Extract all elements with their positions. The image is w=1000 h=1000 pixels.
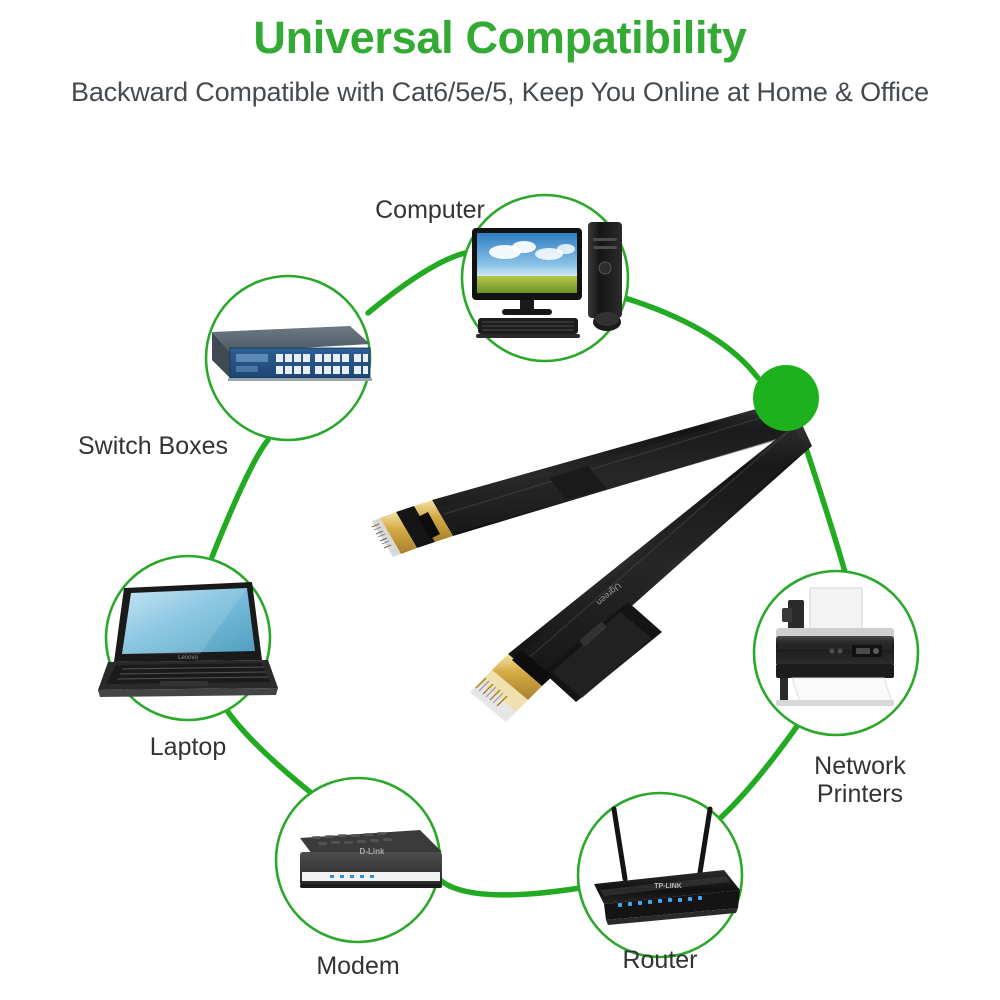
arc-hub-printers [800, 430, 845, 572]
svg-text:Lenovo: Lenovo [178, 655, 198, 661]
computer-icon [472, 222, 622, 338]
label-network-printers: Network Printers [760, 752, 960, 808]
compatibility-diagram: Lenovo D-Link [0, 0, 1000, 1000]
cable-hub-node [753, 365, 819, 431]
infographic-page: Universal Compatibility Backward Compati… [0, 0, 1000, 1000]
modem-icon: D-Link [300, 830, 442, 888]
switch-box-icon [212, 326, 372, 381]
svg-text:TP-LINK: TP-LINK [654, 883, 682, 890]
arc-router-modem [440, 880, 580, 895]
label-switch-boxes: Switch Boxes [48, 432, 258, 460]
svg-text:D-Link: D-Link [360, 847, 385, 856]
arc-switch-computer [368, 253, 465, 313]
label-computer: Computer [330, 196, 530, 224]
label-modem: Modem [258, 952, 458, 980]
arc-computer-hub [625, 298, 758, 378]
laptop-icon: Lenovo [98, 582, 278, 697]
label-router: Router [560, 946, 760, 974]
flat-ethernet-cable: Ugreen [372, 365, 819, 722]
label-laptop: Laptop [88, 733, 288, 761]
